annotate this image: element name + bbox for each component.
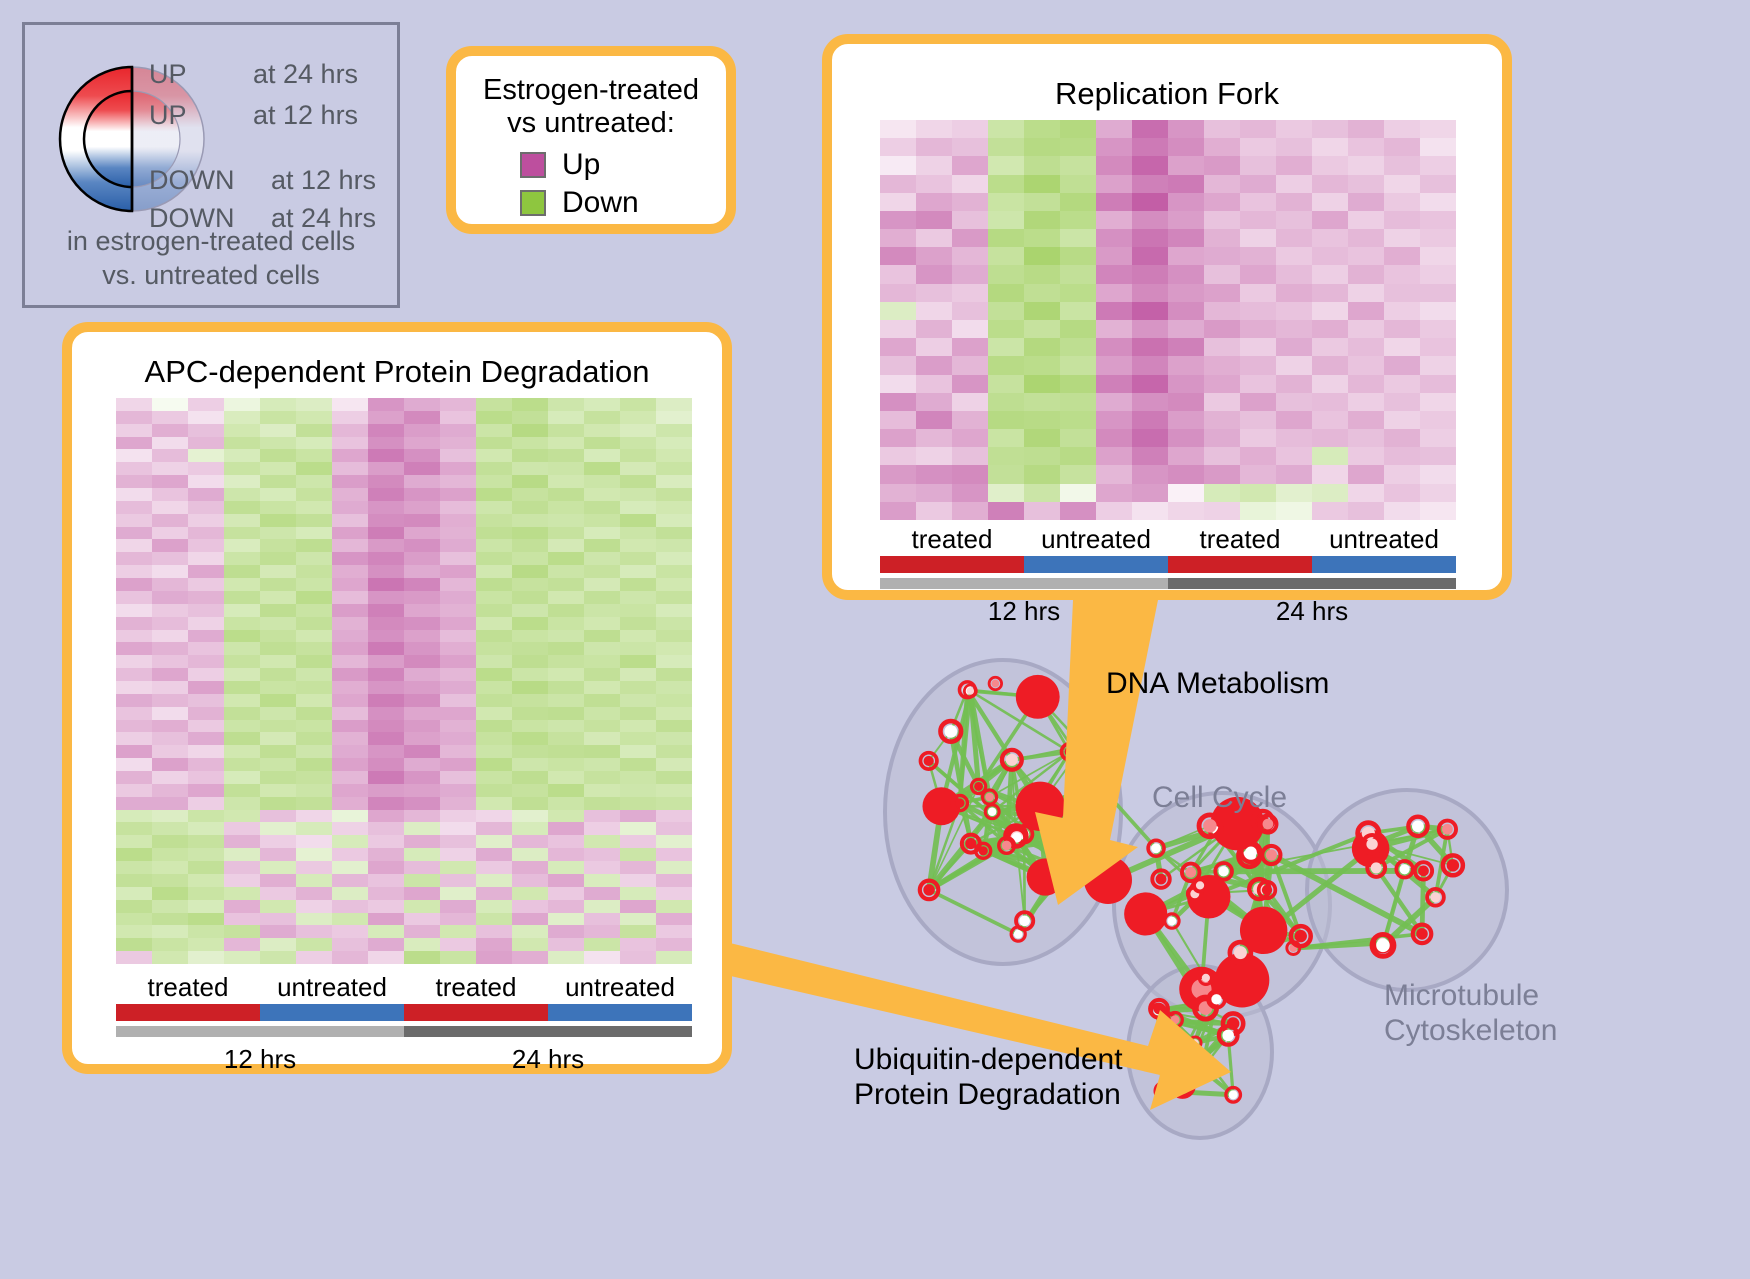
network-node-core [962, 685, 972, 695]
network-node-ring[interactable] [1230, 942, 1251, 963]
network-edge [992, 812, 1045, 877]
network-edge [1271, 855, 1300, 936]
network-edge [1195, 890, 1267, 894]
network-node-ring[interactable] [1165, 914, 1179, 928]
network-node-ring[interactable] [1215, 863, 1232, 880]
network-edge [1435, 865, 1452, 897]
network-node-ring[interactable] [1182, 864, 1200, 882]
network-edge [1210, 826, 1249, 856]
network-edge [1293, 943, 1382, 948]
rf-group-bar-1 [1024, 556, 1168, 573]
network-edge [1251, 852, 1264, 930]
halo-cell-cycle [1114, 793, 1330, 1017]
network-node-ring[interactable] [1009, 829, 1025, 845]
rf-group-label-3: untreated [1312, 524, 1456, 555]
network-edge [1249, 824, 1268, 856]
network-node-core [1065, 747, 1075, 757]
network-node-ring[interactable] [1194, 1062, 1209, 1077]
network-node-ring[interactable] [1006, 826, 1027, 847]
network-node-ring[interactable] [1189, 1037, 1201, 1049]
network-node-core [1218, 866, 1228, 876]
network-edge [1012, 746, 1083, 760]
network-node-ring[interactable] [1262, 846, 1280, 864]
network-edge [983, 838, 1079, 851]
network-edge [1191, 871, 1224, 872]
network-edge [1216, 821, 1263, 830]
network-node[interactable] [1179, 967, 1224, 1012]
network-edge [970, 691, 1069, 752]
network-node-ring[interactable] [1187, 1059, 1203, 1075]
network-edge [1216, 830, 1259, 889]
network-edge [979, 786, 1046, 877]
network-edge [1237, 824, 1249, 856]
network-node[interactable] [1240, 907, 1287, 954]
network-node-ring[interactable] [989, 677, 1002, 690]
network-node-core [1399, 864, 1409, 874]
apc-time-label-12: 12 hrs [116, 1044, 404, 1075]
arrow-to-dna-metabolism [1035, 600, 1158, 905]
apc-time-label-24: 24 hrs [404, 1044, 692, 1075]
network-edge [941, 691, 970, 806]
network-node-ring[interactable] [1016, 912, 1033, 929]
network-node-core [1418, 866, 1429, 877]
network-node-core [1151, 843, 1161, 853]
network-node-core [1014, 930, 1023, 939]
network-edge [1191, 872, 1195, 893]
rf-group-bar-0 [880, 556, 1024, 573]
network-node-ring[interactable] [1219, 1026, 1238, 1045]
network-edge [970, 691, 978, 786]
network-edge [1210, 826, 1259, 889]
network-node-ring[interactable] [1199, 815, 1221, 837]
network-node-core [1366, 838, 1377, 849]
network-edge [1159, 1008, 1205, 1009]
network-node-ring[interactable] [999, 838, 1015, 854]
apc-group-label-1: untreated [260, 972, 404, 1003]
network-edge [1202, 999, 1217, 1069]
label-microtubule-line2: Cytoskeleton [1384, 1013, 1557, 1048]
network-edge [1024, 822, 1096, 834]
network-edge [1007, 822, 1096, 846]
network-edge [970, 691, 989, 797]
network-edge [1200, 855, 1271, 885]
network-edge [1209, 824, 1268, 897]
network-node-ring[interactable] [964, 685, 976, 697]
network-edge [1007, 827, 1086, 846]
network-edge [1158, 1011, 1233, 1023]
network-node-ring[interactable] [1195, 997, 1217, 1019]
rf-group-label-0: treated [880, 524, 1024, 555]
network-node-ring[interactable] [1358, 823, 1379, 844]
network-edge [1167, 1021, 1195, 1067]
network-edge [1159, 999, 1216, 1008]
network-node-ring[interactable] [1155, 1083, 1171, 1099]
network-edge [1017, 746, 1083, 838]
network-edge [1251, 852, 1259, 889]
network-node-core [1197, 1065, 1206, 1074]
network-node[interactable] [1015, 782, 1064, 831]
network-node-core [1191, 1039, 1198, 1046]
network-edge [983, 851, 1067, 870]
network-node-core [1234, 946, 1247, 959]
rf-time-label-12: 12 hrs [880, 596, 1168, 627]
network-node-core [1012, 832, 1022, 842]
network-edge [1383, 869, 1405, 945]
network-edge [941, 806, 1015, 836]
network-edge [1195, 856, 1249, 894]
network-edge [1206, 1008, 1234, 1024]
network-node-ring[interactable] [1151, 1004, 1165, 1018]
network-node-ring[interactable] [1363, 835, 1381, 853]
network-edge [1264, 930, 1301, 936]
network-node-ring[interactable] [1193, 879, 1206, 892]
network-edge [1372, 826, 1418, 844]
network-edge [1372, 844, 1453, 865]
network-edge [992, 752, 1069, 812]
network-node-core [1196, 881, 1204, 889]
network-edge [992, 812, 1096, 822]
network-edge [1016, 836, 1025, 921]
network-edge [990, 797, 1068, 870]
network-edge [1175, 1020, 1195, 1043]
network-node-ring[interactable] [1208, 991, 1225, 1008]
network-edge [960, 803, 971, 844]
network-edge [1172, 921, 1206, 978]
color-key-panel: UP at 24 hrs UP at 12 hrs DOWN at 12 hrs… [22, 22, 400, 308]
network-node-ring[interactable] [1062, 744, 1078, 760]
key-label-up-12: UP [149, 100, 187, 131]
network-edge [941, 786, 978, 806]
network-node-ring[interactable] [920, 753, 936, 769]
network-node-ring[interactable] [1199, 971, 1212, 984]
network-edge [1175, 1020, 1233, 1095]
network-edge [929, 803, 960, 890]
network-edge [1017, 752, 1070, 838]
network-node-core [967, 687, 974, 694]
network-edge [1016, 836, 1080, 838]
network-node-ring[interactable] [920, 881, 939, 900]
network-node-core [1202, 974, 1210, 982]
network-node-core [955, 798, 964, 807]
network-edge [960, 803, 1045, 877]
network-node-core [1442, 824, 1453, 835]
network-edge [1163, 1085, 1182, 1090]
network-edge [1202, 1069, 1233, 1094]
network-edge [1158, 1008, 1205, 1011]
network-node[interactable] [1016, 675, 1060, 719]
network-edge [1159, 1009, 1195, 1043]
network-node-ring[interactable] [1239, 845, 1260, 866]
network-node-ring[interactable] [1223, 1013, 1243, 1033]
label-dna-metabolism: DNA Metabolism [1106, 666, 1329, 701]
network-edge [1017, 834, 1024, 837]
network-edge [1200, 871, 1224, 885]
network-node-ring[interactable] [1188, 887, 1203, 902]
network-edge [1435, 829, 1447, 897]
apc-panel-title: APC-dependent Protein Degradation [72, 354, 722, 390]
network-node-core [1080, 821, 1091, 832]
network-node-core [1377, 938, 1388, 949]
key-label-down-12: DOWN [149, 165, 234, 196]
network-edge [1017, 837, 1080, 838]
network-node-ring[interactable] [1002, 750, 1022, 770]
rf-time-label-24: 24 hrs [1168, 596, 1456, 627]
legend-item-up: Up [520, 148, 600, 182]
network-edge [1371, 844, 1372, 848]
network-node-ring[interactable] [940, 721, 961, 742]
network-edge [1191, 824, 1238, 873]
network-node[interactable] [1124, 892, 1167, 935]
network-edge [971, 844, 1007, 846]
network-edge [1007, 845, 1046, 877]
network-edge [1240, 889, 1259, 953]
network-edge [1240, 936, 1300, 953]
network-node-core [1447, 859, 1459, 871]
network-node-ring[interactable] [1259, 882, 1276, 899]
network-node-ring[interactable] [1287, 942, 1300, 955]
network-edge [1156, 824, 1237, 849]
network-node-ring[interactable] [1168, 1012, 1183, 1027]
apc-degradation-panel: APC-dependent Protein Degradation treate… [62, 322, 732, 1074]
label-microtubule-cytoskeleton: Microtubule Cytoskeleton [1384, 978, 1557, 1049]
network-node[interactable] [1187, 875, 1230, 918]
network-edge [1195, 1035, 1228, 1067]
network-edge [1167, 1021, 1228, 1035]
network-node-ring[interactable] [1291, 926, 1311, 946]
network-edge [1156, 848, 1161, 879]
network-node-ring[interactable] [1415, 862, 1432, 879]
network-edge [1163, 1091, 1233, 1095]
network-node-ring[interactable] [983, 790, 997, 804]
network-node-core [1295, 930, 1307, 942]
network-edge [1158, 1011, 1175, 1020]
network-node-ring[interactable] [1172, 1075, 1194, 1097]
network-node-ring[interactable] [1089, 815, 1102, 828]
replication-fork-title: Replication Fork [832, 76, 1502, 112]
network-edge [983, 834, 1024, 851]
network-node-ring[interactable] [1396, 861, 1413, 878]
network-node-ring[interactable] [962, 835, 980, 853]
network-edge [1007, 834, 1025, 845]
network-edge [929, 837, 1017, 889]
network-node-core [1222, 1030, 1234, 1042]
network-edge [1096, 788, 1100, 822]
network-node-ring[interactable] [1249, 879, 1269, 899]
network-node-core [1266, 849, 1277, 860]
network-edge [1191, 872, 1264, 930]
network-node-ring[interactable] [952, 796, 967, 811]
network-node-core [965, 838, 976, 849]
apc-group-label-2: treated [404, 972, 548, 1003]
halo-dna-metabolism [885, 660, 1121, 964]
key-time-up-24: at 24 hrs [253, 59, 358, 90]
network-node-core [1019, 829, 1029, 839]
network-node-ring[interactable] [1374, 934, 1391, 951]
network-node-core [1211, 994, 1221, 1004]
network-edge [929, 806, 941, 890]
network-edge [1202, 953, 1241, 989]
network-edge [992, 788, 1100, 812]
network-edge [1024, 834, 1067, 870]
network-edge [1040, 806, 1045, 877]
network-edge [967, 690, 1037, 697]
network-edge [971, 760, 1012, 844]
label-ubiquitin-line1: Ubiquitin-dependent [854, 1042, 1123, 1077]
network-node[interactable] [1352, 830, 1390, 868]
network-node[interactable] [1051, 853, 1084, 886]
network-edge [971, 844, 1045, 877]
legend-title: Estrogen-treated vs untreated: [456, 74, 726, 141]
network-node-ring[interactable] [959, 682, 975, 698]
network-edge [1040, 806, 1108, 880]
network-edge [929, 761, 1017, 838]
network-edge [1240, 953, 1242, 981]
network-edge [1259, 889, 1301, 936]
network-node-ring[interactable] [1150, 1000, 1168, 1018]
network-node-ring[interactable] [1259, 815, 1276, 832]
network-edge [1167, 1021, 1202, 1069]
network-edge [983, 806, 1040, 850]
network-node-ring[interactable] [1209, 824, 1222, 837]
network-edge [1200, 852, 1251, 885]
network-edge [1371, 829, 1448, 848]
color-key-footer-line1: in estrogen-treated cells [25, 225, 397, 259]
network-node-ring[interactable] [1148, 840, 1164, 856]
network-edge [1175, 1020, 1195, 1068]
network-edge [990, 797, 1016, 836]
network-node-ring[interactable] [1159, 1013, 1176, 1030]
network-node-ring[interactable] [1367, 859, 1385, 877]
network-node-ring[interactable] [1372, 934, 1394, 956]
network-node-core [1227, 1017, 1240, 1030]
network-edge [1159, 1009, 1228, 1036]
network-edge [1224, 829, 1448, 871]
network-edge [1200, 885, 1209, 896]
network-edge [941, 803, 959, 806]
network-node-core [1289, 944, 1297, 952]
label-microtubule-line1: Microtubule [1384, 978, 1557, 1013]
legend-item-down: Down [520, 186, 639, 220]
network-node-ring[interactable] [1443, 855, 1463, 875]
network-edge [1007, 845, 1068, 869]
network-edge [1210, 826, 1271, 855]
network-edge [1158, 999, 1216, 1011]
network-edge [1209, 821, 1263, 897]
network-node-ring[interactable] [971, 779, 985, 793]
rf-group-label-2: treated [1168, 524, 1312, 555]
legend-swatch-down [520, 190, 546, 216]
network-edge [1263, 821, 1268, 824]
network-node-ring[interactable] [1427, 889, 1444, 906]
network-edge [1267, 890, 1301, 936]
network-edge [1108, 824, 1237, 880]
network-edge [1040, 806, 1085, 827]
network-edge [1040, 788, 1100, 806]
network-node-ring[interactable] [1016, 826, 1033, 843]
network-edge [992, 806, 1040, 811]
network-edge [1070, 752, 1156, 848]
network-node-ring[interactable] [1075, 737, 1092, 754]
network-node-ring[interactable] [1072, 831, 1087, 846]
network-node-core [1075, 834, 1084, 843]
network-edge [1224, 855, 1272, 871]
network-edge [1024, 827, 1085, 834]
network-node-ring[interactable] [1011, 927, 1025, 941]
network-edge [1167, 1021, 1195, 1043]
network-edge [1200, 824, 1237, 886]
apc-group-label-3: untreated [548, 972, 692, 1003]
network-edge [1251, 852, 1267, 890]
network-edge [967, 690, 989, 797]
network-node[interactable] [1084, 856, 1132, 904]
network-edge [979, 786, 1007, 845]
network-node-ring[interactable] [1226, 1087, 1241, 1102]
halo-microtubule [1307, 790, 1507, 990]
network-edge [1209, 833, 1369, 896]
network-node[interactable] [1215, 953, 1270, 1008]
network-edge [1216, 824, 1268, 830]
network-edge [951, 731, 979, 786]
network-node-ring[interactable] [985, 805, 999, 819]
network-node-ring[interactable] [1152, 870, 1169, 887]
network-edge [960, 803, 1024, 834]
network-node-core [1262, 885, 1272, 895]
rf-group-bar-3 [1312, 556, 1456, 573]
network-node-core [1199, 1001, 1213, 1015]
network-edge [929, 812, 992, 890]
network-edge [1200, 885, 1264, 930]
network-node-core [1156, 874, 1167, 885]
network-edge [1371, 849, 1405, 870]
network-node-ring[interactable] [1076, 818, 1093, 835]
network-edge [1079, 838, 1108, 880]
network-edge [1038, 697, 1083, 746]
network-edge [941, 806, 1024, 834]
network-edge [1018, 838, 1079, 934]
network-edge [1259, 889, 1263, 930]
network-edge [1191, 872, 1209, 896]
network-node[interactable] [922, 787, 960, 825]
network-edge [971, 836, 1016, 844]
network-edge [1195, 1035, 1228, 1043]
network-node-core [1096, 784, 1104, 792]
network-edge [929, 845, 1007, 889]
network-edge [983, 797, 989, 851]
network-edge [1158, 1011, 1195, 1067]
network-edge [1159, 1009, 1182, 1086]
apc-group-bar-2 [404, 1004, 548, 1021]
network-node-core [924, 756, 934, 766]
network-edge [1012, 760, 1024, 834]
network-node-ring[interactable] [976, 843, 991, 858]
network-node-core [1060, 862, 1075, 877]
network-edge [1209, 897, 1264, 931]
network-edge [983, 851, 1045, 877]
network-node[interactable] [1027, 858, 1064, 895]
network-node-ring[interactable] [1241, 843, 1260, 862]
network-edge [1016, 834, 1024, 836]
network-node-ring[interactable] [1439, 821, 1456, 838]
network-edge [1195, 999, 1216, 1043]
network-edge [1259, 889, 1293, 948]
network-node-ring[interactable] [1408, 817, 1427, 836]
network-node-core [1162, 1016, 1172, 1026]
network-node-core [1002, 841, 1012, 851]
network-node-core [1176, 1079, 1190, 1093]
network-node-ring[interactable] [1093, 781, 1107, 795]
network-node-ring[interactable] [1413, 925, 1432, 944]
network-edge [1146, 897, 1209, 914]
